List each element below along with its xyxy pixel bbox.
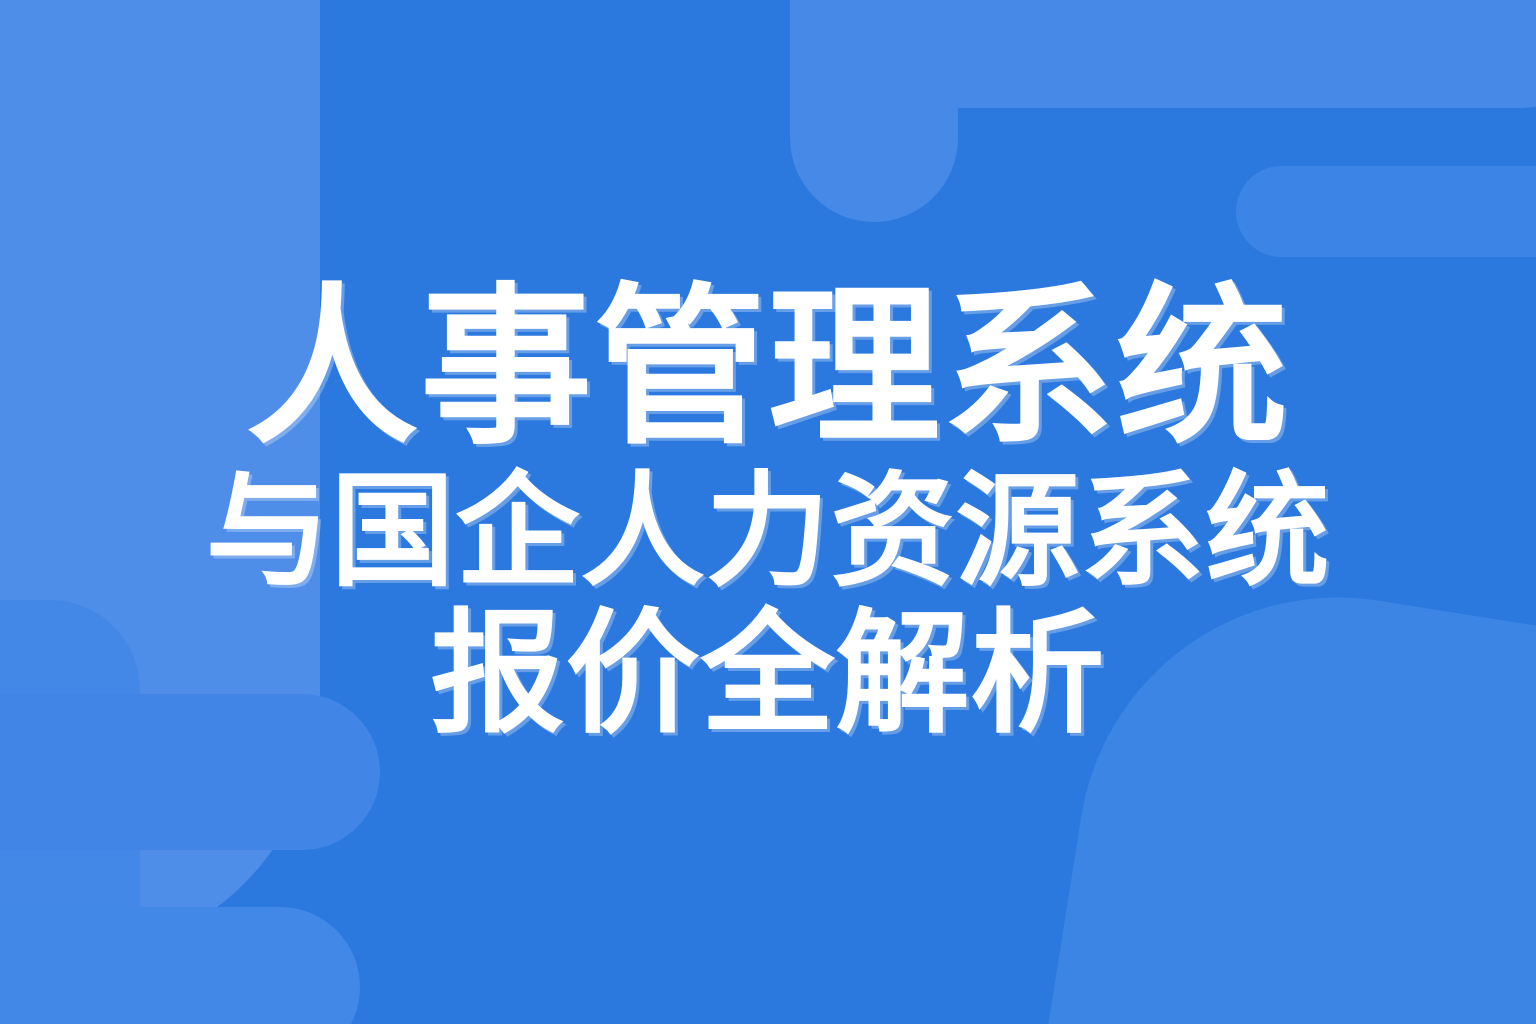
title-line-secondary: 与国企人力资源系统 [205,470,1330,594]
title-block: 人事管理系统 与国企人力资源系统 报价全解析 [0,0,1536,1024]
title-line-primary: 人事管理系统 [246,282,1290,454]
poster-canvas: 人事管理系统 与国企人力资源系统 报价全解析 [0,0,1536,1024]
title-line-tertiary: 报价全解析 [430,608,1105,742]
